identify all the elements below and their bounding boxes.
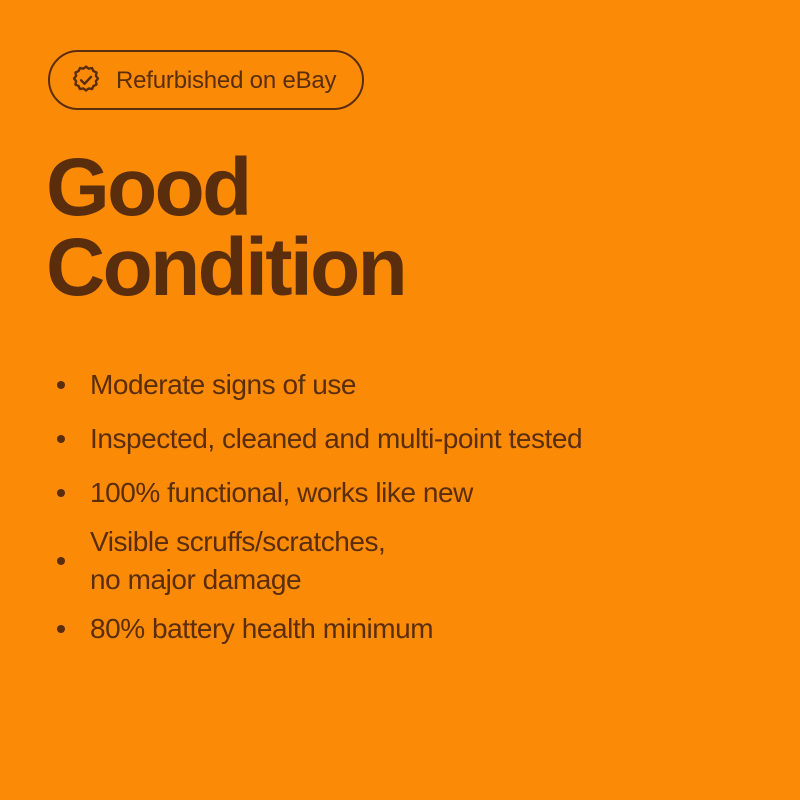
list-item-label: Inspected, cleaned and multi-point teste… <box>90 420 582 458</box>
refurbished-condition-card: Refurbished on eBay Good Condition Moder… <box>0 0 800 800</box>
list-item: 80% battery health minimum <box>48 602 758 656</box>
list-item-label: Moderate signs of use <box>90 366 356 404</box>
list-item: Moderate signs of use <box>48 358 758 412</box>
condition-feature-list: Moderate signs of use Inspected, cleaned… <box>48 358 758 656</box>
list-item: 100% functional, works like new <box>48 466 758 520</box>
bullet-dot-icon <box>57 625 65 633</box>
verified-rosette-check-icon <box>70 64 102 96</box>
list-item: Inspected, cleaned and multi-point teste… <box>48 412 758 466</box>
bullet-dot-icon <box>57 557 65 565</box>
bullet-dot-icon <box>57 489 65 497</box>
list-item: Visible scruffs/scratches, no major dama… <box>48 520 758 602</box>
list-item-label: 100% functional, works like new <box>90 474 473 512</box>
list-item-label: 80% battery health minimum <box>90 610 433 648</box>
refurbished-badge-label: Refurbished on eBay <box>116 69 336 93</box>
refurbished-badge[interactable]: Refurbished on eBay <box>48 50 364 110</box>
bullet-dot-icon <box>57 435 65 443</box>
page-title: Good Condition <box>46 148 405 307</box>
bullet-dot-icon <box>57 381 65 389</box>
list-item-label: Visible scruffs/scratches, no major dama… <box>90 523 385 599</box>
